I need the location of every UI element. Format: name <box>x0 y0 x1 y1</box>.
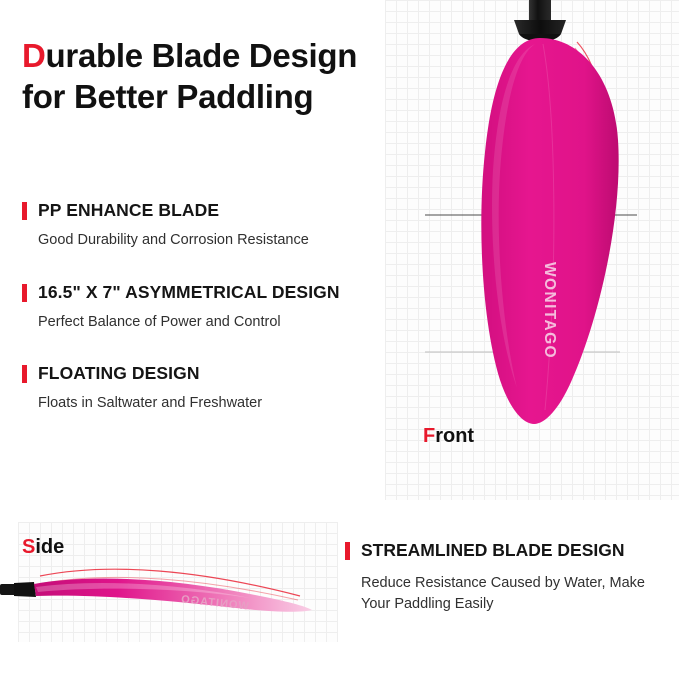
label-rest: ront <box>435 425 474 447</box>
feature-title: STREAMLINED BLADE DESIGN <box>361 540 675 561</box>
label-rest: ide <box>35 536 64 558</box>
label-accent-letter: S <box>22 536 35 558</box>
view-label-front: Front <box>423 425 474 448</box>
brand-label-front: WONITAGO <box>540 262 558 359</box>
feature-description: Reduce Resistance Caused by Water, Make … <box>361 573 675 615</box>
feature-item-streamlined-blade-design: STREAMLINED BLADE DESIGN Reduce Resistan… <box>345 540 675 615</box>
feature-item-floating-design: FLOATING DESIGN Floats in Saltwater and … <box>22 363 394 414</box>
product-infographic: WONITAGO WONITAGO Durable Blade Design f… <box>0 0 679 679</box>
red-bar-marker-icon <box>22 365 27 383</box>
feature-description: Floats in Saltwater and Freshwater <box>38 394 394 414</box>
headline-line1: urable Blade Design <box>46 37 358 74</box>
paddle-front-illustration <box>385 0 679 470</box>
page-title: Durable Blade Design for Better Paddling <box>22 36 394 118</box>
feature-item-asymmetrical-design: 16.5" X 7" ASYMMETRICAL DESIGN Perfect B… <box>22 282 394 333</box>
feature-title: FLOATING DESIGN <box>38 363 394 384</box>
headline-line2: for Better Paddling <box>22 78 313 115</box>
feature-list: PP ENHANCE BLADE Good Durability and Cor… <box>22 200 394 445</box>
feature-description: Perfect Balance of Power and Control <box>38 313 394 333</box>
feature-item-pp-enhance-blade: PP ENHANCE BLADE Good Durability and Cor… <box>22 200 394 251</box>
feature-description: Good Durability and Corrosion Resistance <box>38 231 394 251</box>
feature-title: PP ENHANCE BLADE <box>38 200 394 221</box>
red-bar-marker-icon <box>22 284 27 302</box>
label-accent-letter: F <box>423 425 435 447</box>
view-label-side: Side <box>22 536 64 559</box>
feature-title: 16.5" X 7" ASYMMETRICAL DESIGN <box>38 282 394 303</box>
red-bar-marker-icon <box>345 542 350 560</box>
red-bar-marker-icon <box>22 202 27 220</box>
headline-accent-letter: D <box>22 37 46 74</box>
